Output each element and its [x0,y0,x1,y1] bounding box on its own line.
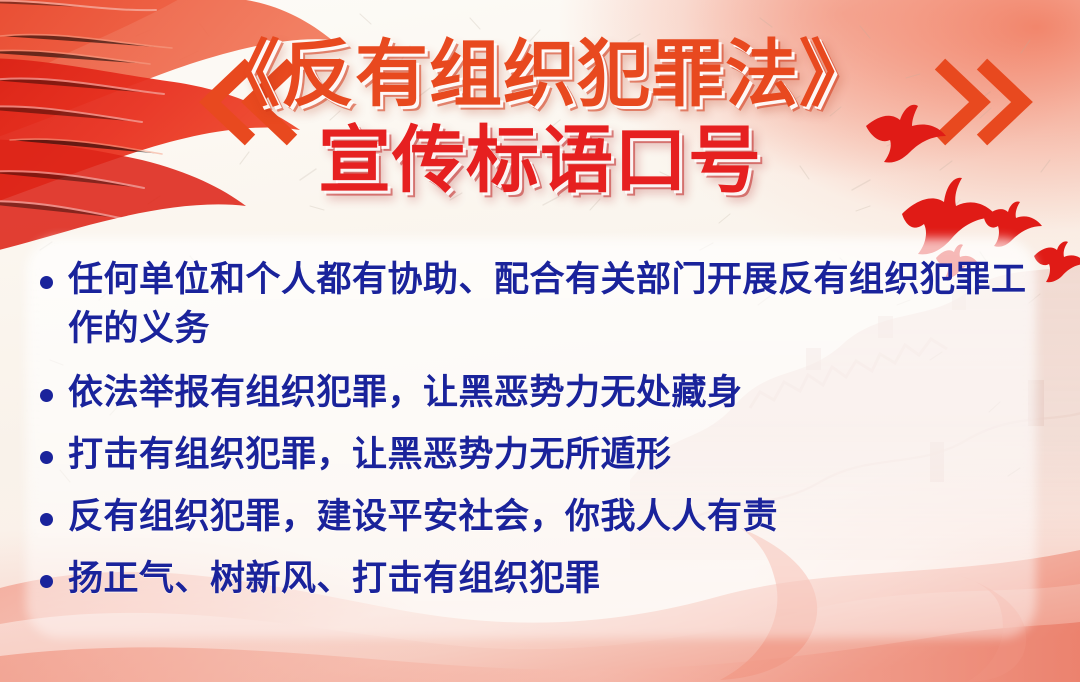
bullet-dot-icon [40,451,53,464]
bullet-dot-icon [40,389,53,402]
bullet-dot-icon [40,513,53,526]
bullet-dot-icon [40,276,53,289]
slogan-text: 依法举报有组织犯罪，让黑恶势力无处藏身 [68,373,743,413]
slogan-item: 依法举报有组织犯罪，让黑恶势力无处藏身 [38,369,1050,418]
slogan-item: 反有组织犯罪，建设平安社会，你我人人有责 [38,493,1050,542]
slogan-item: 扬正气、树新风、打击有组织犯罪 [38,555,1050,604]
poster-title-block: 《反有组织犯罪法》 宣传标语口号 [0,38,1080,199]
poster-canvas: 《反有组织犯罪法》 宣传标语口号 任何单位和个人都有协助、配合有关部门开展反有组… [0,0,1080,682]
slogan-text: 反有组织犯罪，建设平安社会，你我人人有责 [68,497,778,537]
bullet-dot-icon [40,575,53,588]
poster-title-line-2: 宣传标语口号 [0,124,1080,198]
poster-title-line-1: 《反有组织犯罪法》 [0,38,1080,112]
slogan-item: 打击有组织犯罪，让黑恶势力无所遁形 [38,431,1050,480]
slogan-item: 任何单位和个人都有协助、配合有关部门开展反有组织犯罪工作的义务 [38,256,1050,354]
slogan-text: 打击有组织犯罪，让黑恶势力无所遁形 [68,435,672,475]
slogan-text: 扬正气、树新风、打击有组织犯罪 [68,559,601,599]
slogan-list: 任何单位和个人都有协助、配合有关部门开展反有组织犯罪工作的义务 依法举报有组织犯… [38,256,1050,617]
slogan-text: 任何单位和个人都有协助、配合有关部门开展反有组织犯罪工作的义务 [68,260,1027,349]
